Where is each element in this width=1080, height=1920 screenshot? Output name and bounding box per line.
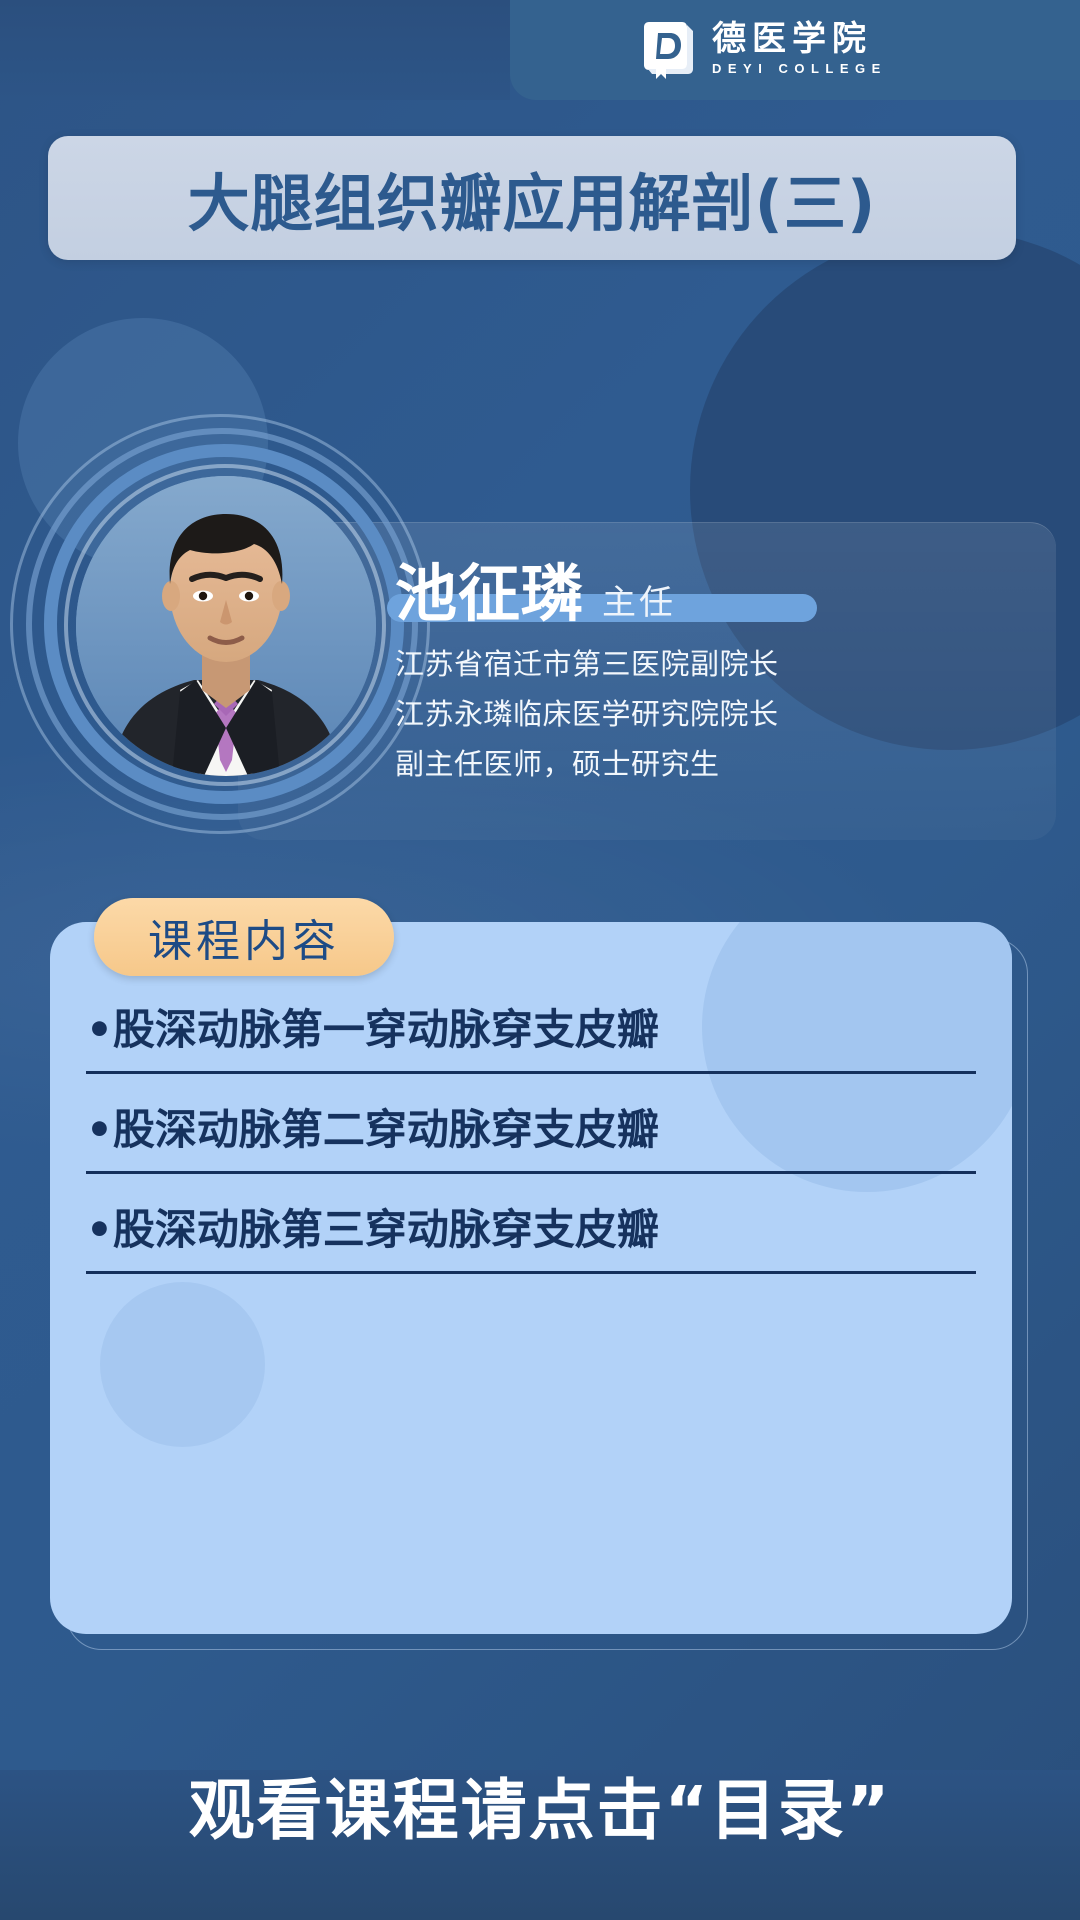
brand-logo[interactable]: 德医学院 DEYI COLLEGE [636, 14, 887, 86]
list-item-label: •股深动脉第二穿动脉穿支皮瓣 [86, 1096, 976, 1157]
list-item[interactable]: •股深动脉第二穿动脉穿支皮瓣 [86, 1096, 976, 1174]
course-content-badge-label: 课程内容 [148, 905, 340, 969]
avatar [76, 476, 376, 776]
page-title: 大腿组织瓣应用解剖(三) [188, 153, 877, 243]
credential-line: 江苏省宿迁市第三医院副院长 [395, 640, 895, 690]
course-content-card: •股深动脉第一穿动脉穿支皮瓣 •股深动脉第二穿动脉穿支皮瓣 •股深动脉第三穿动脉… [50, 922, 1012, 1634]
course-content-badge: 课程内容 [94, 898, 394, 976]
poster-canvas: 德医学院 DEYI COLLEGE 大腿组织瓣应用解剖(三) [0, 0, 1080, 1920]
list-item[interactable]: •股深动脉第一穿动脉穿支皮瓣 [86, 996, 976, 1074]
brand-name-cn: 德医学院 [712, 22, 887, 58]
brand-name-en: DEYI COLLEGE [712, 60, 887, 78]
credential-line: 副主任医师，硕士研究生 [395, 740, 895, 790]
speaker-name-row: 池征璘 主任 [395, 540, 895, 626]
speaker-name: 池征璘 [395, 564, 584, 626]
footer-cta-text: 观看课程请点击“目录” [189, 1757, 892, 1853]
footer-cta: 观看课程请点击“目录” [0, 1740, 1080, 1870]
speaker-credentials: 江苏省宿迁市第三医院副院长 江苏永璘临床医学研究院院长 副主任医师，硕士研究生 [395, 640, 895, 790]
card-decorative-circle-bottom [100, 1282, 265, 1447]
title-banner: 大腿组织瓣应用解剖(三) [48, 136, 1016, 260]
list-item-label: •股深动脉第一穿动脉穿支皮瓣 [86, 996, 976, 1057]
course-content-list: •股深动脉第一穿动脉穿支皮瓣 •股深动脉第二穿动脉穿支皮瓣 •股深动脉第三穿动脉… [86, 996, 976, 1296]
credential-line: 江苏永璘临床医学研究院院长 [395, 690, 895, 740]
speaker-role: 主任 [602, 586, 676, 626]
speaker-info: 池征璘 主任 江苏省宿迁市第三医院副院长 江苏永璘临床医学研究院院长 副主任医师… [395, 540, 895, 790]
book-d-icon [636, 19, 698, 81]
list-item-label: •股深动脉第三穿动脉穿支皮瓣 [86, 1196, 976, 1257]
list-item[interactable]: •股深动脉第三穿动脉穿支皮瓣 [86, 1196, 976, 1274]
header-left-panel [0, 0, 510, 100]
